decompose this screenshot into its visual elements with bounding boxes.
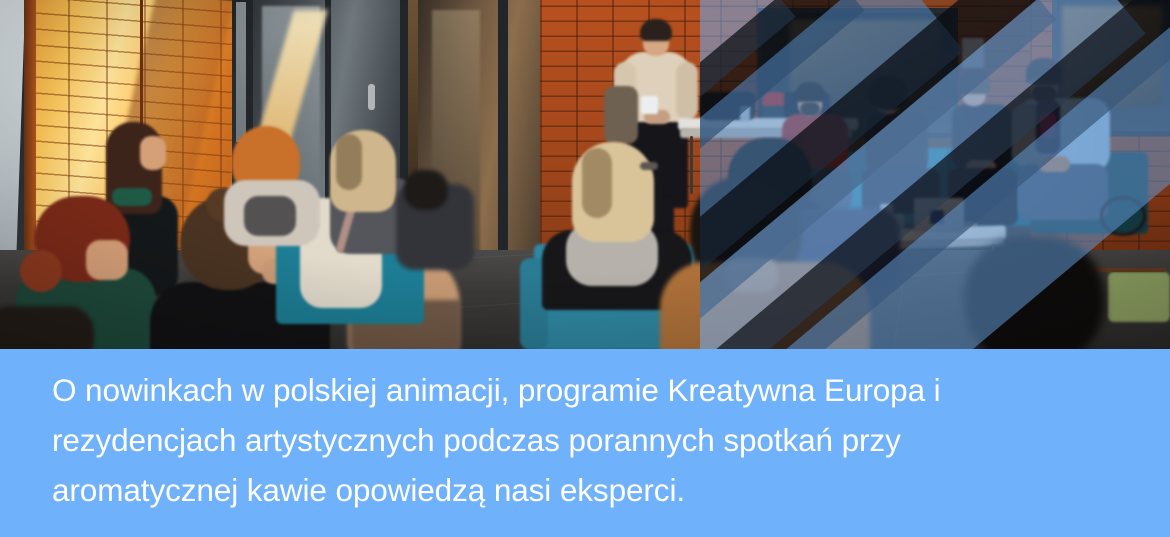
caption-line-2: rezydencjach artystycznych podczas poran… [52, 415, 1112, 465]
promo-banner: O nowinkach w polskiej animacji, program… [0, 0, 1170, 537]
caption-line-3: aromatycznej kawie opowiedzą nasi eksper… [52, 465, 1112, 515]
caption-band: O nowinkach w polskiej animacji, program… [0, 349, 1170, 537]
caption-line-1: O nowinkach w polskiej animacji, program… [52, 365, 1112, 415]
photo-vignette [0, 0, 1170, 350]
event-photo [0, 0, 1170, 350]
caption-text: O nowinkach w polskiej animacji, program… [52, 365, 1112, 515]
